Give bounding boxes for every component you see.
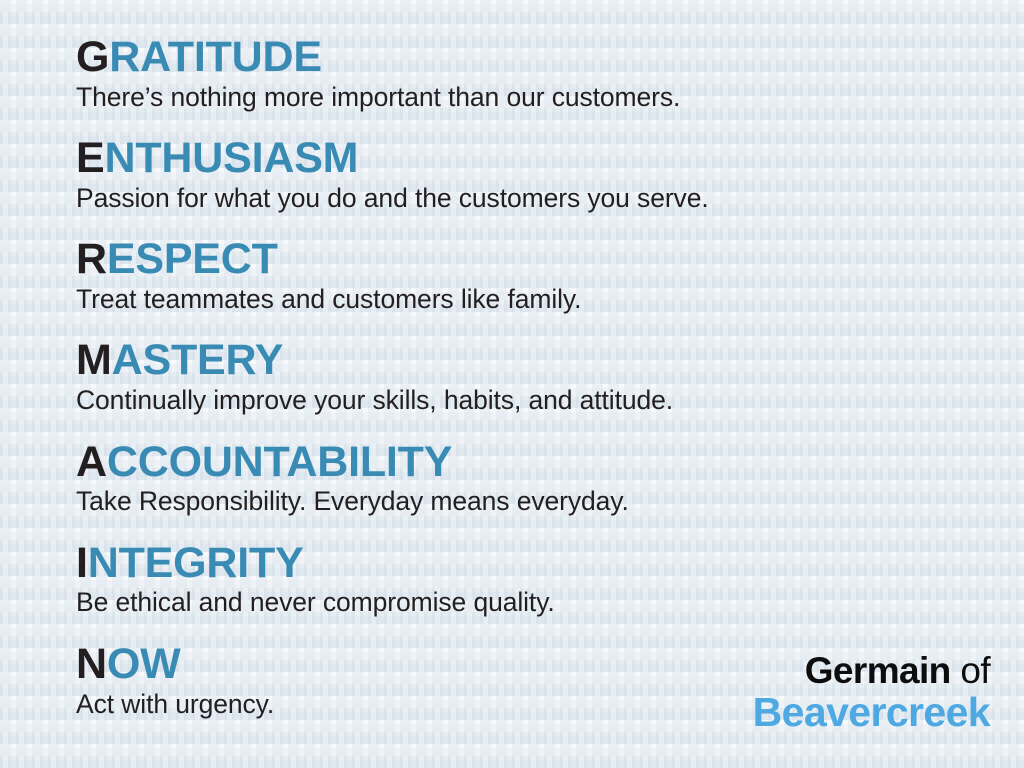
value-block-gratitude: GRATITUDE There’s nothing more important… <box>76 36 976 113</box>
brand-name-secondary: Beavercreek <box>753 692 990 734</box>
value-description-accountability: Take Responsibility. Everyday means ever… <box>76 486 976 517</box>
value-initial-letter: E <box>76 134 104 182</box>
value-heading-accountability: ACCOUNTABILITY <box>76 441 976 485</box>
value-heading-remainder: NTEGRITY <box>88 539 304 587</box>
value-heading-remainder: ESPECT <box>107 235 278 283</box>
value-description-gratitude: There’s nothing more important than our … <box>76 82 976 113</box>
value-initial-letter: A <box>76 438 107 486</box>
value-block-mastery: MASTERY Continually improve your skills,… <box>76 339 976 416</box>
value-heading-mastery: MASTERY <box>76 339 976 383</box>
value-description-enthusiasm: Passion for what you do and the customer… <box>76 183 976 214</box>
value-initial-letter: R <box>76 235 107 283</box>
poster-content-layer: GRATITUDE There’s nothing more important… <box>0 0 1024 768</box>
value-heading-gratitude: GRATITUDE <box>76 36 976 80</box>
brand-logo: Germain of Beavercreek <box>753 652 990 734</box>
brand-name-primary: Germain <box>805 650 951 691</box>
value-heading-remainder: ASTERY <box>112 336 284 384</box>
value-description-mastery: Continually improve your skills, habits,… <box>76 385 976 416</box>
value-block-enthusiasm: ENTHUSIASM Passion for what you do and t… <box>76 137 976 214</box>
value-initial-letter: G <box>76 33 109 81</box>
value-heading-remainder: RATITUDE <box>109 33 322 81</box>
core-values-list: GRATITUDE There’s nothing more important… <box>76 36 976 744</box>
brand-logo-line-top: Germain of <box>753 652 990 690</box>
value-heading-remainder: CCOUNTABILITY <box>107 438 452 486</box>
value-description-respect: Treat teammates and customers like famil… <box>76 284 976 315</box>
value-heading-enthusiasm: ENTHUSIASM <box>76 137 976 181</box>
value-initial-letter: M <box>76 336 112 384</box>
value-description-integrity: Be ethical and never compromise quality. <box>76 587 976 618</box>
value-heading-remainder: NTHUSIASM <box>104 134 358 182</box>
value-block-respect: RESPECT Treat teammates and customers li… <box>76 238 976 315</box>
value-heading-integrity: INTEGRITY <box>76 542 976 586</box>
value-heading-respect: RESPECT <box>76 238 976 282</box>
value-block-accountability: ACCOUNTABILITY Take Responsibility. Ever… <box>76 441 976 518</box>
value-block-integrity: INTEGRITY Be ethical and never compromis… <box>76 542 976 619</box>
values-poster: GRATITUDE There’s nothing more important… <box>0 0 1024 768</box>
value-initial-letter: N <box>76 640 107 688</box>
brand-name-connector: of <box>951 650 990 691</box>
value-initial-letter: I <box>76 539 88 587</box>
value-heading-remainder: OW <box>107 640 181 688</box>
